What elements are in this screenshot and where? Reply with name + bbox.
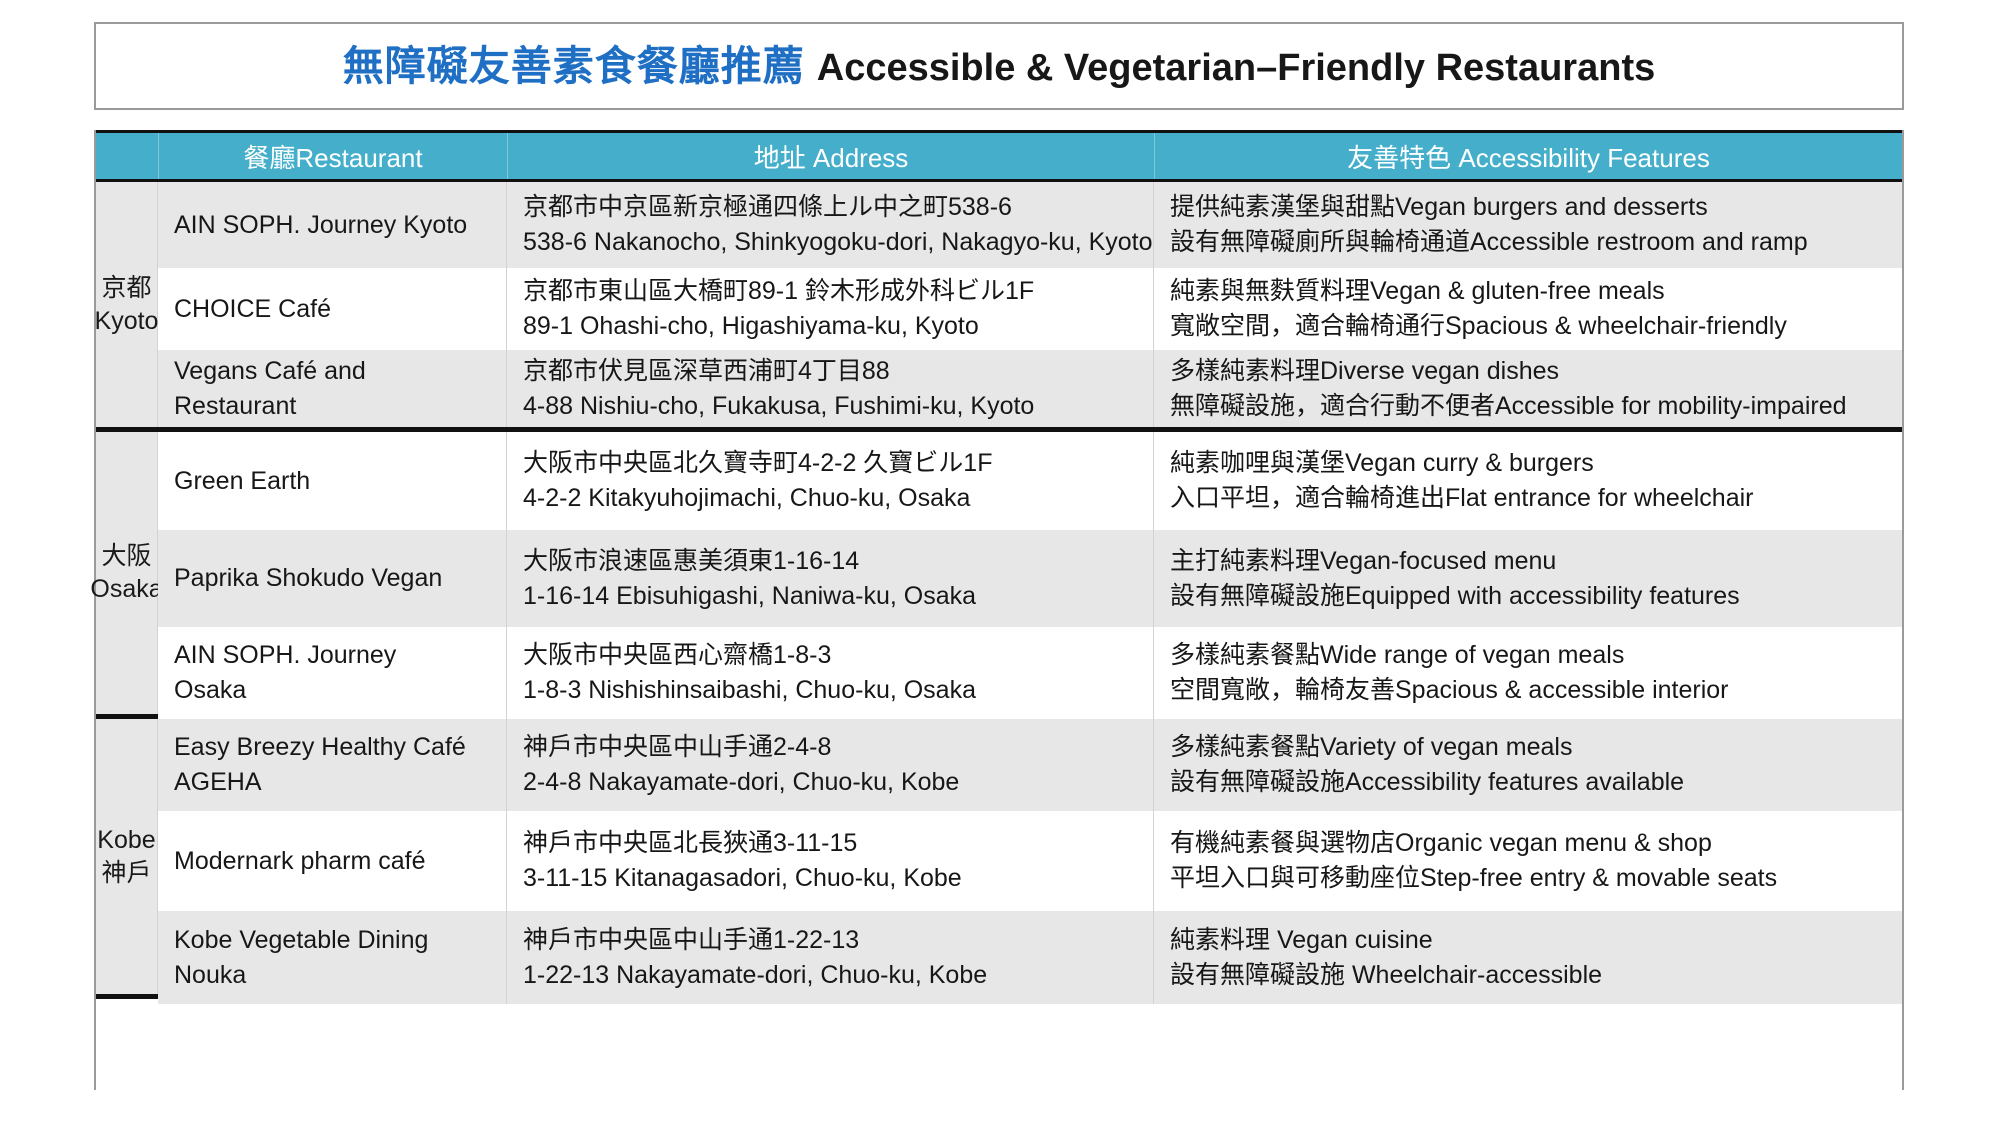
column-header-features: 友善特色 Accessibility Features: [1154, 133, 1902, 179]
cell-address: 大阪市中央區北久寶寺町4-2-2 久寶ビル1F 4-2-2 Kitakyuhoj…: [507, 432, 1154, 530]
cell-restaurant: Modernark pharm café: [158, 811, 507, 911]
address-line2: 1-16-14 Ebisuhigashi, Naniwa-ku, Osaka: [523, 579, 1153, 614]
restaurant-name-line1: Vegans Café and: [174, 354, 506, 389]
cell-restaurant: CHOICE Café: [158, 268, 507, 350]
cell-features: 主打純素料理Vegan-focused menu 設有無障礙設施Equipped…: [1154, 530, 1902, 627]
region-cell-osaka: 大阪 Osaka: [96, 432, 158, 714]
cell-features: 多樣純素料理Diverse vegan dishes 無障礙設施，適合行動不便者…: [1154, 350, 1902, 427]
cell-address: 京都市中京區新京極通四條上ル中之町538-6 538-6 Nakanocho, …: [507, 182, 1154, 268]
feature-line1: 多樣純素餐點Variety of vegan meals: [1170, 730, 1902, 765]
cell-address: 大阪市浪速區惠美須東1-16-14 1-16-14 Ebisuhigashi, …: [507, 530, 1154, 627]
cell-restaurant: Kobe Vegetable Dining Nouka: [158, 911, 507, 1004]
cell-address: 神戶市中央區北長狹通3-11-15 3-11-15 Kitanagasadori…: [507, 811, 1154, 911]
restaurant-name-line1: Paprika Shokudo Vegan: [174, 561, 506, 596]
cell-features: 有機純素餐與選物店Organic vegan menu & shop 平坦入口與…: [1154, 811, 1902, 911]
feature-line2: 設有無障礙設施Accessibility features available: [1170, 765, 1902, 800]
region-cell-kobe: Kobe 神戶: [96, 719, 158, 994]
table-row[interactable]: Vegans Café and Restaurant 京都市伏見區深草西浦町4丁…: [158, 350, 1902, 427]
feature-line2: 入口平坦，適合輪椅進出Flat entrance for wheelchair: [1170, 481, 1902, 516]
address-line1: 京都市中京區新京極通四條上ル中之町538-6: [523, 190, 1153, 225]
cell-address: 京都市東山區大橋町89-1 鈴木形成外科ビル1F 89-1 Ohashi-cho…: [507, 268, 1154, 350]
page-title: 無障礙友善素食餐廳推薦Accessible & Vegetarian–Frien…: [343, 46, 1655, 87]
cell-address: 大阪市中央區西心齋橋1-8-3 1-8-3 Nishishinsaibashi,…: [507, 627, 1154, 719]
region-rows-kyoto: AIN SOPH. Journey Kyoto 京都市中京區新京極通四條上ル中之…: [158, 182, 1902, 427]
table-header-row: 餐廳Restaurant 地址 Address 友善特色 Accessibili…: [96, 130, 1902, 182]
table-row[interactable]: Modernark pharm café 神戶市中央區北長狹通3-11-15 3…: [158, 811, 1902, 911]
address-line2: 1-8-3 Nishishinsaibashi, Chuo-ku, Osaka: [523, 673, 1153, 708]
address-line2: 3-11-15 Kitanagasadori, Chuo-ku, Kobe: [523, 861, 1153, 896]
region-label-chinese: 神戶: [97, 857, 155, 890]
address-line2: 89-1 Ohashi-cho, Higashiyama-ku, Kyoto: [523, 309, 1153, 344]
region-rows-osaka: Green Earth 大阪市中央區北久寶寺町4-2-2 久寶ビル1F 4-2-…: [158, 432, 1902, 714]
cell-restaurant: AIN SOPH. Journey Osaka: [158, 627, 507, 719]
cell-features: 多樣純素餐點Wide range of vegan meals 空間寬敞，輪椅友…: [1154, 627, 1902, 719]
region-rows-kobe: Easy Breezy Healthy Café AGEHA 神戶市中央區中山手…: [158, 719, 1902, 994]
table-row[interactable]: AIN SOPH. Journey Osaka 大阪市中央區西心齋橋1-8-3 …: [158, 627, 1902, 719]
page-title-chinese: 無障礙友善素食餐廳推薦: [343, 43, 805, 89]
table-row[interactable]: Green Earth 大阪市中央區北久寶寺町4-2-2 久寶ビル1F 4-2-…: [158, 432, 1902, 530]
feature-line1: 多樣純素餐點Wide range of vegan meals: [1170, 638, 1902, 673]
address-line1: 大阪市浪速區惠美須東1-16-14: [523, 544, 1153, 579]
feature-line2: 設有無障礙設施Equipped with accessibility featu…: [1170, 579, 1902, 614]
restaurant-name-line2: Restaurant: [174, 389, 506, 424]
address-line1: 京都市伏見區深草西浦町4丁目88: [523, 354, 1153, 389]
feature-line2: 設有無障礙設施 Wheelchair-accessible: [1170, 958, 1902, 993]
cell-address: 神戶市中央區中山手通2-4-8 2-4-8 Nakayamate-dori, C…: [507, 719, 1154, 811]
cell-features: 純素咖哩與漢堡Vegan curry & burgers 入口平坦，適合輪椅進出…: [1154, 432, 1902, 530]
address-line2: 2-4-8 Nakayamate-dori, Chuo-ku, Kobe: [523, 765, 1153, 800]
restaurant-name-line1: Kobe Vegetable Dining: [174, 923, 506, 958]
restaurant-name-line1: CHOICE Café: [174, 292, 506, 327]
region-cell-kyoto: 京都 Kyoto: [96, 182, 158, 427]
restaurant-name-line1: Green Earth: [174, 464, 506, 499]
table-row[interactable]: Paprika Shokudo Vegan 大阪市浪速區惠美須東1-16-14 …: [158, 530, 1902, 627]
feature-line1: 提供純素漢堡與甜點Vegan burgers and desserts: [1170, 190, 1902, 225]
slide-canvas: 無障礙友善素食餐廳推薦Accessible & Vegetarian–Frien…: [0, 0, 2000, 1125]
restaurant-name-line2: AGEHA: [174, 765, 506, 800]
table-row[interactable]: Easy Breezy Healthy Café AGEHA 神戶市中央區中山手…: [158, 719, 1902, 811]
cell-address: 京都市伏見區深草西浦町4丁目88 4-88 Nishiu-cho, Fukaku…: [507, 350, 1154, 427]
region-group-kobe: Kobe 神戶 Easy Breezy Healthy Café AGEHA 神…: [96, 714, 1902, 999]
feature-line1: 純素料理 Vegan cuisine: [1170, 923, 1902, 958]
address-line1: 神戶市中央區中山手通2-4-8: [523, 730, 1153, 765]
address-line1: 神戶市中央區中山手通1-22-13: [523, 923, 1153, 958]
address-line2: 538-6 Nakanocho, Shinkyogoku-dori, Nakag…: [523, 225, 1153, 260]
column-header-region: [96, 133, 158, 179]
address-line1: 大阪市中央區北久寶寺町4-2-2 久寶ビル1F: [523, 446, 1153, 481]
feature-line2: 寬敞空間，適合輪椅通行Spacious & wheelchair-friendl…: [1170, 309, 1902, 344]
cell-restaurant: Easy Breezy Healthy Café AGEHA: [158, 719, 507, 811]
cell-restaurant: Vegans Café and Restaurant: [158, 350, 507, 427]
address-line2: 4-88 Nishiu-cho, Fukakusa, Fushimi-ku, K…: [523, 389, 1153, 424]
restaurant-name-line1: AIN SOPH. Journey: [174, 638, 506, 673]
cell-features: 提供純素漢堡與甜點Vegan burgers and desserts 設有無障…: [1154, 182, 1902, 268]
region-label-english: Kobe: [97, 824, 155, 857]
address-line2: 1-22-13 Nakayamate-dori, Chuo-ku, Kobe: [523, 958, 1153, 993]
region-label-chinese: 大阪: [90, 540, 162, 573]
feature-line2: 無障礙設施，適合行動不便者Accessible for mobility-imp…: [1170, 389, 1902, 424]
region-label-chinese: 京都: [95, 272, 159, 305]
page-title-english: Accessible & Vegetarian–Friendly Restaur…: [817, 47, 1655, 89]
address-line1: 大阪市中央區西心齋橋1-8-3: [523, 638, 1153, 673]
cell-restaurant: Green Earth: [158, 432, 507, 530]
cell-features: 多樣純素餐點Variety of vegan meals 設有無障礙設施Acce…: [1154, 719, 1902, 811]
feature-line2: 平坦入口與可移動座位Step-free entry & movable seat…: [1170, 861, 1902, 896]
address-line1: 神戶市中央區北長狹通3-11-15: [523, 826, 1153, 861]
feature-line1: 純素咖哩與漢堡Vegan curry & burgers: [1170, 446, 1902, 481]
cell-restaurant: Paprika Shokudo Vegan: [158, 530, 507, 627]
address-line1: 京都市東山區大橋町89-1 鈴木形成外科ビル1F: [523, 274, 1153, 309]
restaurant-name-line2: Osaka: [174, 673, 506, 708]
table-row[interactable]: AIN SOPH. Journey Kyoto 京都市中京區新京極通四條上ル中之…: [158, 182, 1902, 268]
address-line2: 4-2-2 Kitakyuhojimachi, Chuo-ku, Osaka: [523, 481, 1153, 516]
cell-address: 神戶市中央區中山手通1-22-13 1-22-13 Nakayamate-dor…: [507, 911, 1154, 1004]
restaurant-name-line1: AIN SOPH. Journey Kyoto: [174, 208, 506, 243]
feature-line1: 純素與無麩質料理Vegan & gluten-free meals: [1170, 274, 1902, 309]
restaurant-name-line1: Modernark pharm café: [174, 844, 506, 879]
cell-restaurant: AIN SOPH. Journey Kyoto: [158, 182, 507, 268]
feature-line1: 有機純素餐與選物店Organic vegan menu & shop: [1170, 826, 1902, 861]
column-header-address: 地址 Address: [507, 133, 1154, 179]
cell-features: 純素料理 Vegan cuisine 設有無障礙設施 Wheelchair-ac…: [1154, 911, 1902, 1004]
feature-line2: 空間寬敞，輪椅友善Spacious & accessible interior: [1170, 673, 1902, 708]
cell-features: 純素與無麩質料理Vegan & gluten-free meals 寬敞空間，適…: [1154, 268, 1902, 350]
region-label-english: Osaka: [90, 573, 162, 606]
table-row[interactable]: CHOICE Café 京都市東山區大橋町89-1 鈴木形成外科ビル1F 89-…: [158, 268, 1902, 350]
title-banner: 無障礙友善素食餐廳推薦Accessible & Vegetarian–Frien…: [94, 22, 1904, 110]
column-header-restaurant: 餐廳Restaurant: [158, 133, 507, 179]
restaurant-name-line1: Easy Breezy Healthy Café: [174, 730, 506, 765]
restaurant-table: 餐廳Restaurant 地址 Address 友善特色 Accessibili…: [94, 130, 1904, 1090]
region-group-kyoto: 京都 Kyoto AIN SOPH. Journey Kyoto 京都市中京區新…: [96, 182, 1902, 427]
feature-line1: 多樣純素料理Diverse vegan dishes: [1170, 354, 1902, 389]
feature-line2: 設有無障礙廁所與輪椅通道Accessible restroom and ramp: [1170, 225, 1902, 260]
restaurant-name-line2: Nouka: [174, 958, 506, 993]
region-group-osaka: 大阪 Osaka Green Earth 大阪市中央區北久寶寺町4-2-2 久寶…: [96, 427, 1902, 714]
feature-line1: 主打純素料理Vegan-focused menu: [1170, 544, 1902, 579]
region-label-english: Kyoto: [95, 305, 159, 338]
table-row[interactable]: Kobe Vegetable Dining Nouka 神戶市中央區中山手通1-…: [158, 911, 1902, 1004]
